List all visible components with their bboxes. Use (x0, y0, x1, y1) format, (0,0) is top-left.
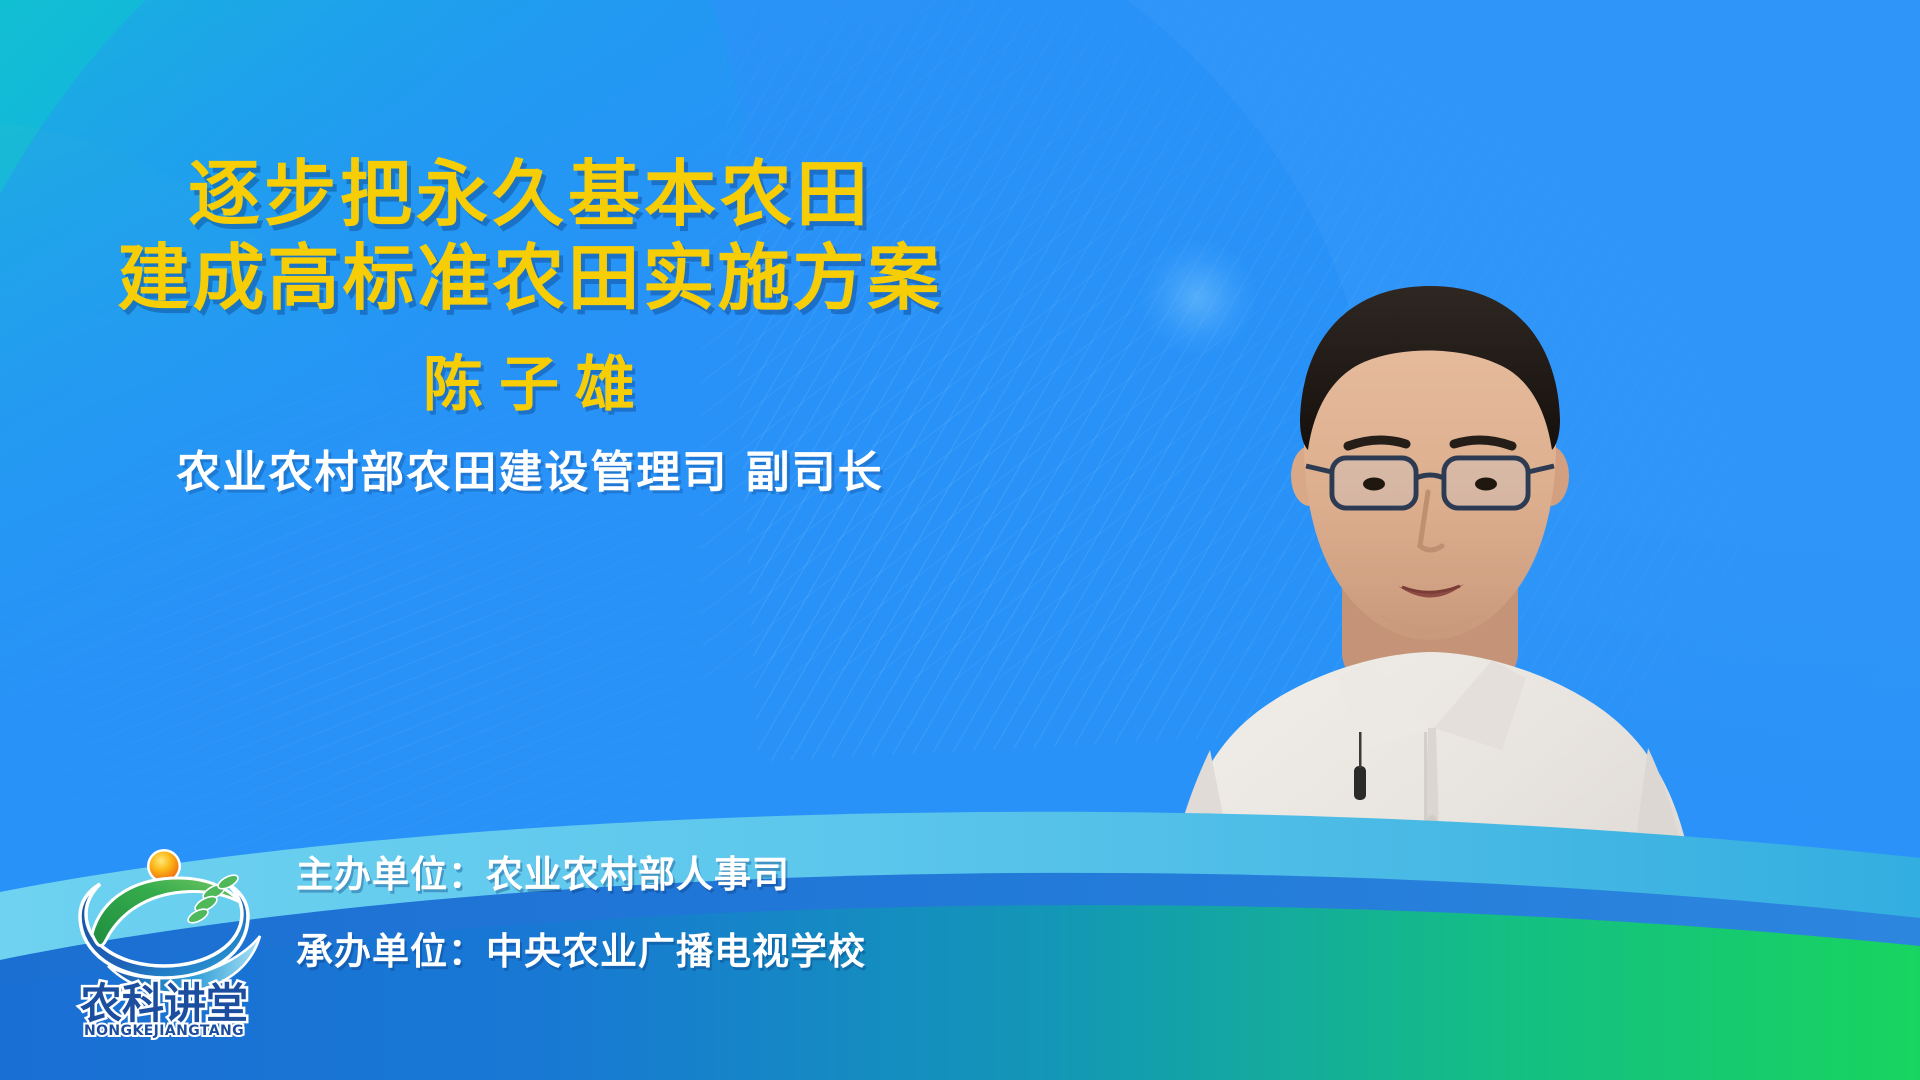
speaker-name: 陈子雄 (0, 350, 1060, 420)
logo-pinyin-text-fill: NONGKEJIANGTANG (84, 1023, 244, 1039)
lecture-title-line-2: 建成高标准农田实施方案 (0, 236, 1060, 320)
slide-stage: 农科讲堂 农科讲堂 NONGKEJIANGTANG NONGKEJIANGTAN… (0, 0, 1920, 1080)
logo-title-text-fill: 农科讲堂 (80, 979, 248, 1028)
lecture-title-line-1: 逐步把永久基本农田 (0, 152, 1060, 236)
credits-block: 主办单位：农业农村部人事司 承办单位：中央农业广播电视学校 (296, 854, 866, 972)
organizer-line: 主办单位：农业农村部人事司 (296, 854, 866, 895)
producer-line: 承办单位：中央农业广播电视学校 (296, 931, 866, 972)
title-block: 逐步把永久基本农田 建成高标准农田实施方案 陈子雄 农业农村部农田建设管理司 副… (0, 152, 1060, 500)
program-logo: 农科讲堂 农科讲堂 NONGKEJIANGTANG NONGKEJIANGTAN… (62, 842, 267, 1042)
speaker-role: 农业农村部农田建设管理司 副司长 (0, 446, 1060, 500)
